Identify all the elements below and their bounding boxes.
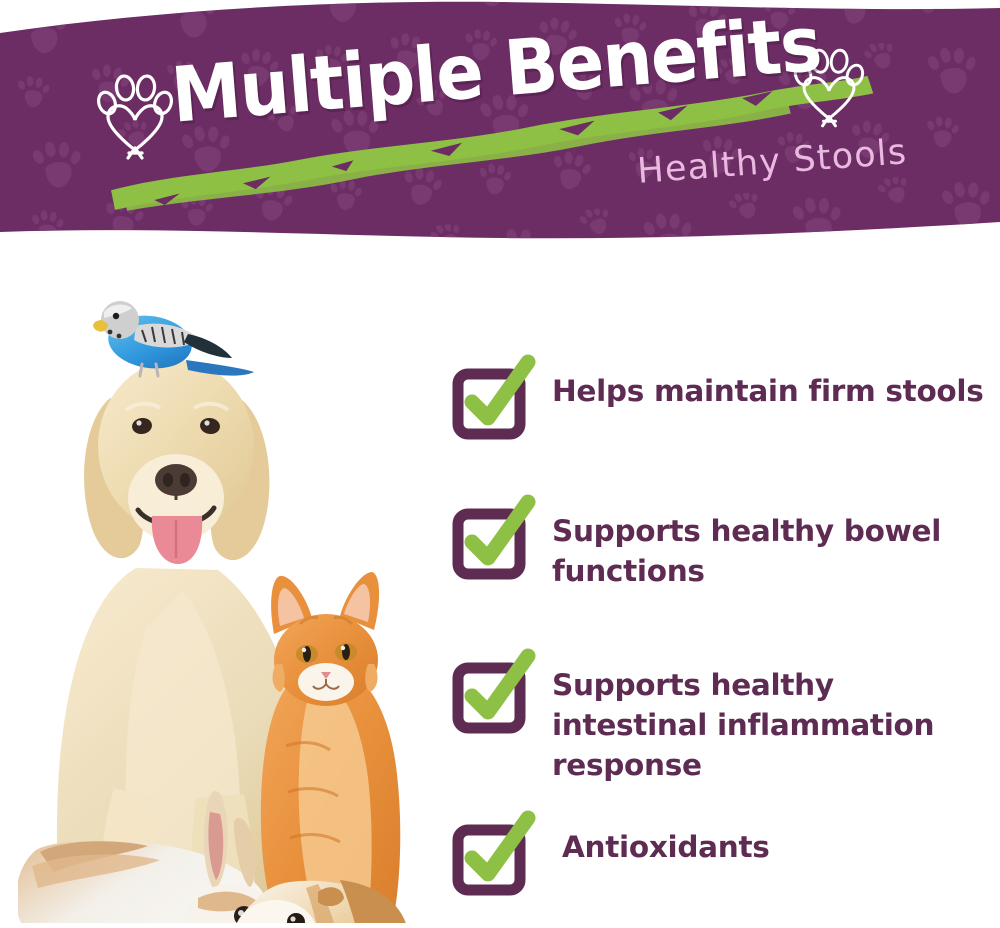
benefit-item: Antioxidants — [452, 810, 992, 896]
benefit-item: Supports healthy bowel functions — [452, 494, 992, 591]
paw-heart-icon-left — [96, 74, 174, 165]
benefit-label: Helps maintain firm stools — [552, 354, 983, 411]
benefit-label: Supports healthy intestinal inflammation… — [552, 648, 992, 785]
checkbox-checked-icon — [452, 648, 538, 734]
checkbox-checked-icon — [452, 354, 538, 440]
poster-canvas: Multiple Benefits Healthy Stools — [0, 0, 1000, 928]
pet-group-photo — [18, 268, 438, 923]
ginger-cat — [261, 572, 400, 923]
banner-header: Multiple Benefits Healthy Stools — [0, 0, 1000, 250]
benefit-label: Supports healthy bowel functions — [552, 494, 992, 591]
benefit-item: Supports healthy intestinal inflammation… — [452, 648, 992, 785]
checkbox-checked-icon — [452, 494, 538, 580]
budgie-bird — [93, 301, 254, 376]
checkbox-checked-icon — [452, 810, 538, 896]
benefit-item: Helps maintain firm stools — [452, 354, 992, 440]
benefit-label: Antioxidants — [552, 810, 770, 867]
